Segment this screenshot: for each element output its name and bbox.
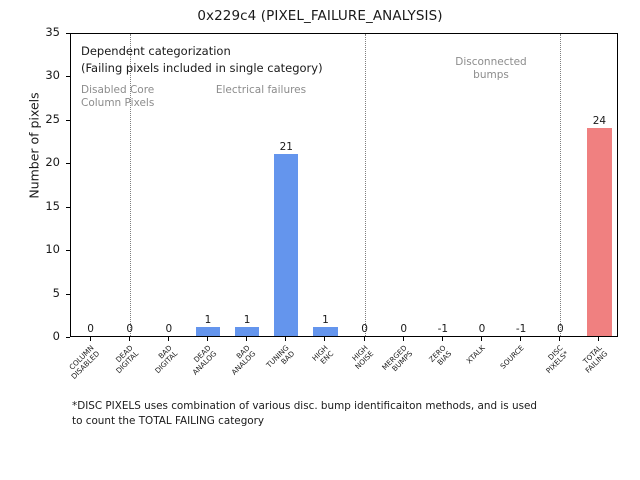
y-tick-label: 10	[45, 242, 60, 256]
y-axis-label: Number of pixels	[27, 36, 42, 256]
y-tick-label: 0	[53, 329, 60, 343]
x-tick-mark	[324, 337, 325, 341]
annotation-electrical-failures: Electrical failures	[171, 84, 351, 97]
y-tick-label: 15	[45, 199, 60, 213]
annotation-disconnected-bumps: Disconnected bumps	[416, 56, 566, 83]
x-tick-mark	[364, 337, 365, 341]
x-tick-mark	[90, 337, 91, 341]
bar	[587, 128, 611, 336]
annotation-dependent-categorization: Dependent categorization (Failing pixels…	[81, 43, 323, 78]
y-tick-label: 35	[45, 25, 60, 39]
x-tick-mark	[442, 337, 443, 341]
bar-value-label: 0	[535, 323, 585, 335]
divider-line	[365, 34, 366, 337]
bar-value-label: 24	[574, 115, 618, 127]
x-tick-mark	[403, 337, 404, 341]
divider-line	[130, 34, 131, 337]
x-tick-mark	[129, 337, 130, 341]
x-tick-mark	[207, 337, 208, 341]
chart-footnote: *DISC PIXELS uses combination of various…	[72, 399, 592, 429]
y-tick-label: 20	[45, 155, 60, 169]
chart-figure: 0x229c4 (PIXEL_FAILURE_ANALYSIS) Number …	[0, 0, 640, 480]
x-tick-mark	[559, 337, 560, 341]
bar	[274, 154, 298, 336]
bar	[235, 327, 259, 336]
bar	[313, 327, 337, 336]
annotation-disabled-core-column-pixels: Disabled Core Column Pixels	[81, 84, 154, 111]
x-tick-mark	[520, 337, 521, 341]
bar-value-label: 21	[261, 141, 311, 153]
x-tick-mark	[481, 337, 482, 341]
bar-value-label: 1	[222, 314, 272, 326]
y-tick-label: 5	[53, 286, 60, 300]
y-tick-label: 25	[45, 112, 60, 126]
x-tick-mark	[168, 337, 169, 341]
plot-area: 0001121100-10-1024 Dependent categorizat…	[70, 33, 618, 337]
chart-title: 0x229c4 (PIXEL_FAILURE_ANALYSIS)	[0, 8, 640, 24]
x-tick-mark	[246, 337, 247, 341]
x-tick-mark	[598, 337, 599, 341]
y-tick-mark	[66, 337, 70, 338]
y-tick-label: 30	[45, 68, 60, 82]
x-tick-mark	[285, 337, 286, 341]
bar	[196, 327, 220, 336]
